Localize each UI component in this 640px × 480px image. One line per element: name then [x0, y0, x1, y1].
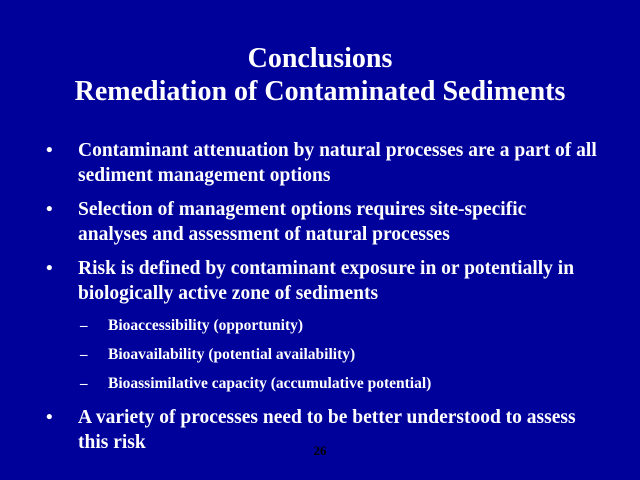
bullet-marker-icon: • [46, 197, 53, 222]
sub-bullet-item: – Bioassimilative capacity (accumulative… [0, 373, 640, 395]
sub-bullet-item: – Bioaccessibility (opportunity) [0, 315, 640, 337]
bullet-item: • Risk is defined by contaminant exposur… [0, 256, 640, 306]
bullet-marker-icon: • [46, 256, 53, 281]
bullet-text: Risk is defined by contaminant exposure … [78, 256, 600, 306]
dash-marker-icon: – [80, 373, 88, 395]
slide-body: • Contaminant attenuation by natural pro… [0, 138, 640, 464]
sub-bullet-text: Bioavailability (potential availability) [108, 344, 600, 366]
bullet-text: Contaminant attenuation by natural proce… [78, 138, 600, 188]
dash-marker-icon: – [80, 344, 88, 366]
bullet-item: • Selection of management options requir… [0, 197, 640, 247]
page-number: 26 [0, 443, 640, 459]
bullet-marker-icon: • [46, 138, 53, 163]
slide-title: Conclusions Remediation of Contaminated … [0, 42, 640, 108]
sub-bullet-text: Bioassimilative capacity (accumulative p… [108, 373, 600, 395]
title-line-secondary: Remediation of Contaminated Sediments [0, 75, 640, 108]
dash-marker-icon: – [80, 315, 88, 337]
presentation-slide: Conclusions Remediation of Contaminated … [0, 0, 640, 480]
sub-bullet-text: Bioaccessibility (opportunity) [108, 315, 600, 337]
title-line-primary: Conclusions [0, 42, 640, 75]
sub-bullet-group: – Bioaccessibility (opportunity) – Bioav… [0, 315, 640, 395]
bullet-text: Selection of management options requires… [78, 197, 600, 247]
sub-bullet-item: – Bioavailability (potential availabilit… [0, 344, 640, 366]
bullet-marker-icon: • [46, 405, 53, 430]
bullet-item: • Contaminant attenuation by natural pro… [0, 138, 640, 188]
